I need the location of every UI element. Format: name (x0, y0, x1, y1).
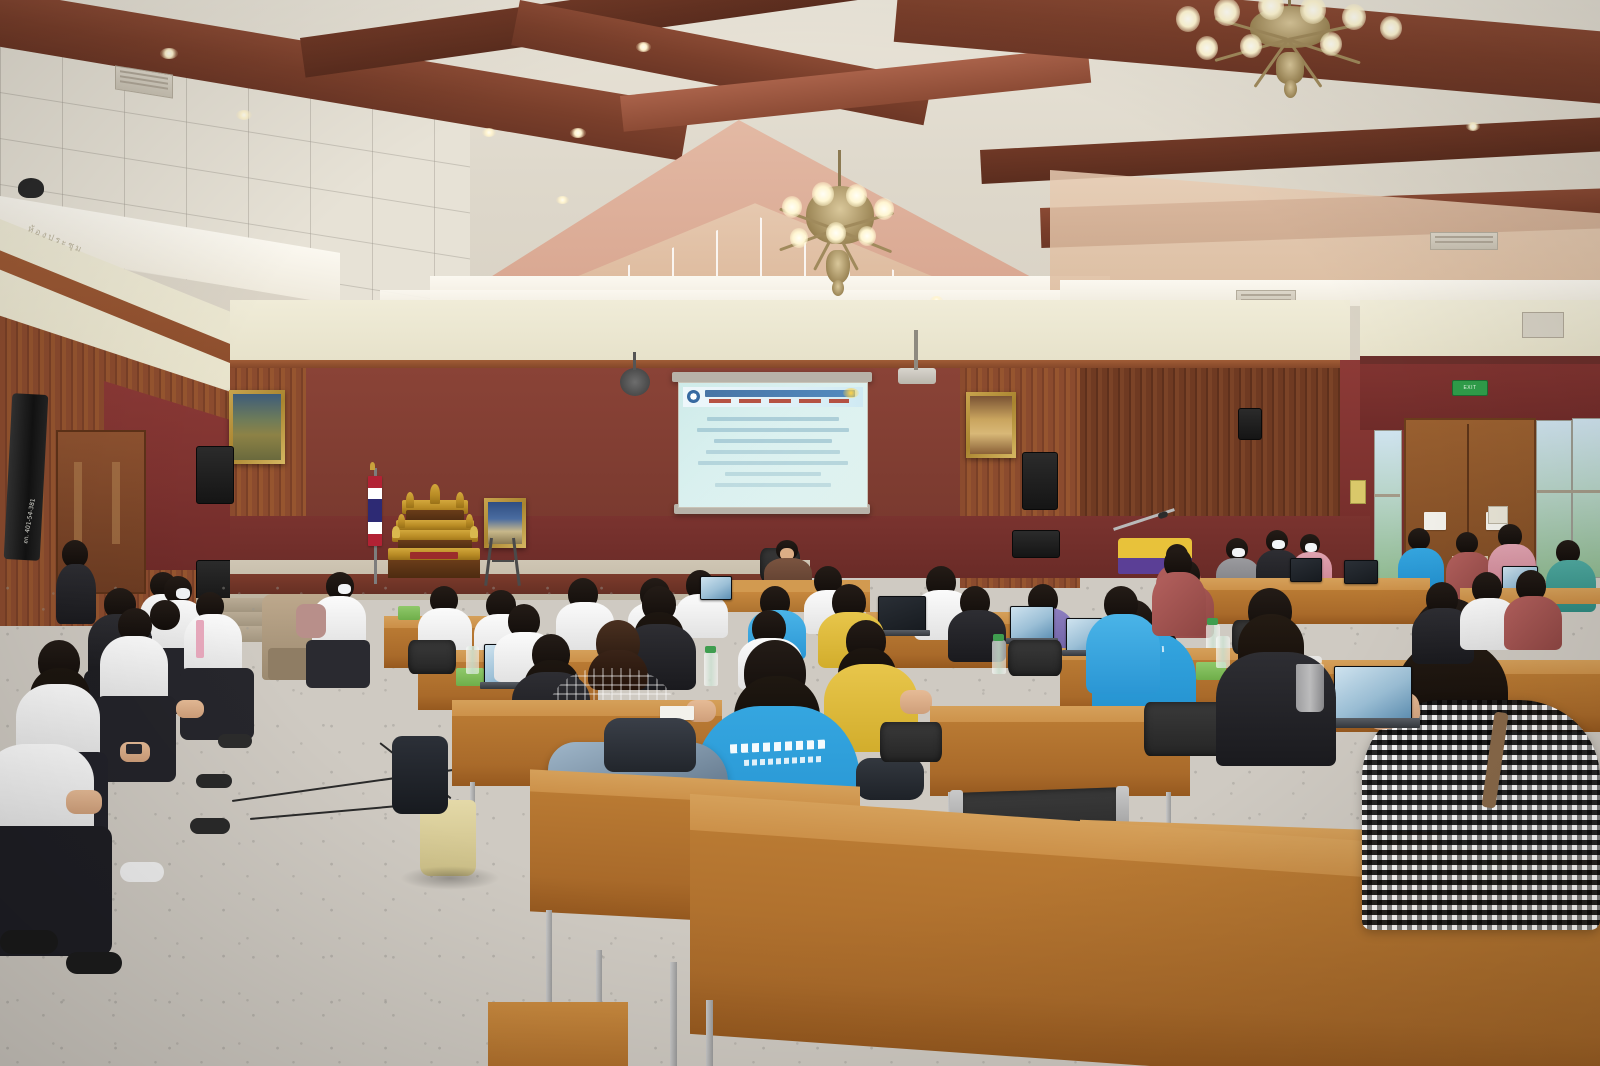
conference-hall-photo: ห้องประชุม อก. 401-54-381 (0, 0, 1600, 1066)
laptop-base (1322, 718, 1420, 728)
right-wall-cream (1360, 300, 1600, 360)
projector (898, 368, 936, 384)
royal-portrait-king (229, 390, 285, 464)
shadow (400, 866, 500, 890)
projector-mount (914, 330, 918, 370)
royal-portrait-queen (966, 392, 1016, 458)
slide-header-english-text (709, 399, 849, 403)
shoe (218, 734, 252, 748)
back-wall-cream (230, 300, 1350, 366)
projector-screen (678, 382, 868, 508)
slide-header (683, 387, 863, 407)
wall-speaker-far-right (1238, 408, 1262, 440)
laptop[interactable] (1344, 560, 1378, 584)
laptop[interactable] (1010, 606, 1054, 640)
speaker-mount (633, 352, 636, 370)
attendee-arm (296, 604, 326, 638)
wall-speaker-right-lower (1012, 530, 1060, 558)
laptop[interactable] (700, 576, 732, 600)
bottle-cap (1207, 618, 1218, 625)
table-leg (670, 962, 677, 1066)
water-bottle (704, 652, 718, 686)
laptop[interactable] (1334, 666, 1412, 722)
shoe (190, 818, 230, 834)
slide-header-sun-icon (843, 388, 859, 398)
chair[interactable] (408, 640, 456, 674)
water-bottle (992, 640, 1006, 674)
window-mullion (1374, 494, 1400, 497)
table-leg (546, 910, 552, 1010)
downlight (236, 110, 252, 120)
cctv-camera (18, 178, 44, 198)
slide-logo-icon (687, 390, 700, 403)
face-mask (338, 584, 351, 594)
water-bottle (1216, 636, 1230, 668)
laptop[interactable] (878, 596, 926, 632)
iced-drink-cup (1296, 664, 1324, 712)
bottle-cap (993, 634, 1004, 641)
downlight (556, 196, 569, 204)
ceiling-speaker (620, 368, 650, 396)
shoe (0, 930, 58, 954)
exit-sign: EXIT (1452, 380, 1488, 396)
right-wall-rail (1360, 356, 1600, 364)
flag-finial (370, 462, 375, 470)
thai-flag (368, 476, 382, 546)
bag (856, 758, 924, 800)
table-leg (706, 1000, 713, 1066)
ac-vent (1430, 232, 1498, 250)
wall-panel-box (1350, 480, 1366, 504)
door-notice (1424, 512, 1446, 530)
bottle-cap (705, 646, 716, 653)
wall-vent-right (1522, 312, 1564, 338)
necktie (196, 620, 204, 658)
table-foreground-edge (488, 1002, 628, 1066)
snack-box (398, 606, 420, 620)
wall-speaker-left (196, 446, 234, 504)
phone (126, 744, 142, 754)
window-mullion (1536, 490, 1600, 493)
laptop[interactable] (1290, 558, 1322, 582)
downlight (570, 128, 586, 138)
shoe (120, 862, 164, 882)
downlight (482, 128, 496, 137)
chair[interactable] (1008, 640, 1062, 676)
wall-speaker-right (1022, 452, 1058, 510)
wall-switch-plate[interactable] (1488, 506, 1508, 524)
backpack-floor (392, 736, 448, 814)
slide-body (693, 417, 853, 487)
door-panel-line (112, 462, 120, 544)
water-bottle (466, 646, 479, 674)
chair[interactable] (880, 722, 942, 762)
door-panel-line (74, 462, 82, 544)
shoe (66, 952, 122, 974)
downlight (1466, 122, 1480, 131)
backpack (604, 718, 696, 772)
shoe (196, 774, 232, 788)
attendee-lap (306, 640, 370, 688)
projector-screen-housing (672, 372, 872, 382)
side-window (1374, 430, 1402, 582)
downlight (160, 48, 178, 59)
downlight (636, 42, 651, 52)
slide-header-thai-text (705, 390, 855, 397)
